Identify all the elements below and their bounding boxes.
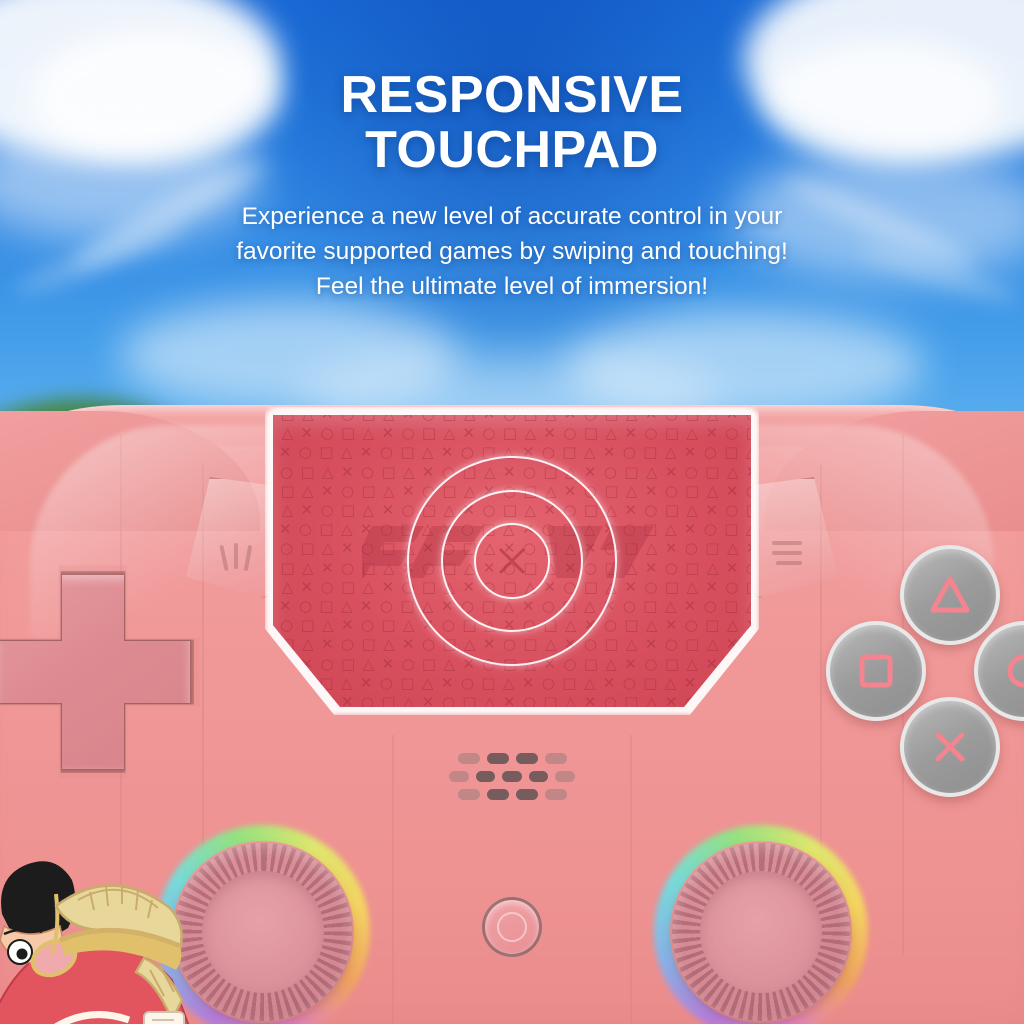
triangle-button[interactable]	[900, 545, 1000, 645]
thumbstick-dish	[700, 871, 822, 993]
shoulder-tick-icon	[772, 551, 802, 555]
speaker-slot	[449, 771, 469, 782]
right-thumbstick[interactable]	[654, 825, 868, 1024]
speaker-slot	[529, 771, 549, 782]
square-button[interactable]	[826, 621, 926, 721]
speaker-slot	[476, 771, 496, 782]
d-pad[interactable]	[0, 565, 200, 779]
touchpad-surface[interactable]: ○□△✕○□△✕○□△✕○□△✕○□△✕○□△✕○□△✕○□△✕○□△✕○□△✕…	[273, 415, 751, 707]
page-title: RESPONSIVE TOUCHPAD	[0, 68, 1024, 178]
home-button-ring	[497, 912, 527, 942]
cross-icon	[927, 724, 973, 770]
dpad-button[interactable]	[0, 575, 190, 769]
title-line-1: RESPONSIVE	[0, 68, 1024, 123]
speaker-slot	[487, 789, 509, 800]
circle-button[interactable]	[974, 621, 1024, 721]
speaker-slot	[545, 753, 567, 764]
cross-icon	[496, 545, 528, 577]
speaker-grille	[449, 753, 575, 807]
shoulder-tick-icon	[776, 561, 802, 565]
speaker-row	[449, 753, 575, 764]
shoulder-tick-icon	[219, 545, 228, 571]
speaker-slot	[545, 789, 567, 800]
circle-icon	[1001, 648, 1024, 694]
thumbstick-dish	[202, 871, 324, 993]
shell-seam	[630, 735, 632, 1024]
speaker-slot	[516, 753, 538, 764]
body-line-1: Experience a new level of accurate contr…	[162, 200, 862, 235]
hero-description: Experience a new level of accurate contr…	[162, 200, 862, 304]
speaker-slot	[487, 753, 509, 764]
shell-seam	[392, 735, 394, 1024]
touchpad[interactable]: ○□△✕○□△✕○□△✕○□△✕○□△✕○□△✕○□△✕○□△✕○□△✕○□△✕…	[273, 415, 751, 707]
character-artwork	[0, 830, 204, 1024]
promo-banner: RESPONSIVE TOUCHPAD Experience a new lev…	[0, 0, 1024, 1024]
speaker-slot	[502, 771, 522, 782]
body-line-2: favorite supported games by swiping and …	[162, 235, 862, 270]
body-line-3: Feel the ultimate level of immersion!	[162, 270, 862, 305]
speaker-row	[449, 771, 575, 782]
home-button[interactable]	[482, 897, 542, 957]
speaker-row	[449, 789, 575, 800]
hero-copy: RESPONSIVE TOUCHPAD Experience a new lev…	[0, 68, 1024, 305]
triangle-icon	[927, 572, 973, 618]
shoulder-tick-icon	[772, 541, 802, 545]
face-button-cluster	[808, 545, 1024, 845]
shoulder-tick-icon	[234, 543, 238, 569]
cross-button[interactable]	[900, 697, 1000, 797]
square-icon	[853, 648, 899, 694]
shoulder-tick-icon	[244, 545, 252, 571]
speaker-slot	[555, 771, 575, 782]
speaker-slot	[516, 789, 538, 800]
speaker-slot	[458, 753, 480, 764]
speaker-slot	[458, 789, 480, 800]
title-line-2: TOUCHPAD	[0, 123, 1024, 178]
